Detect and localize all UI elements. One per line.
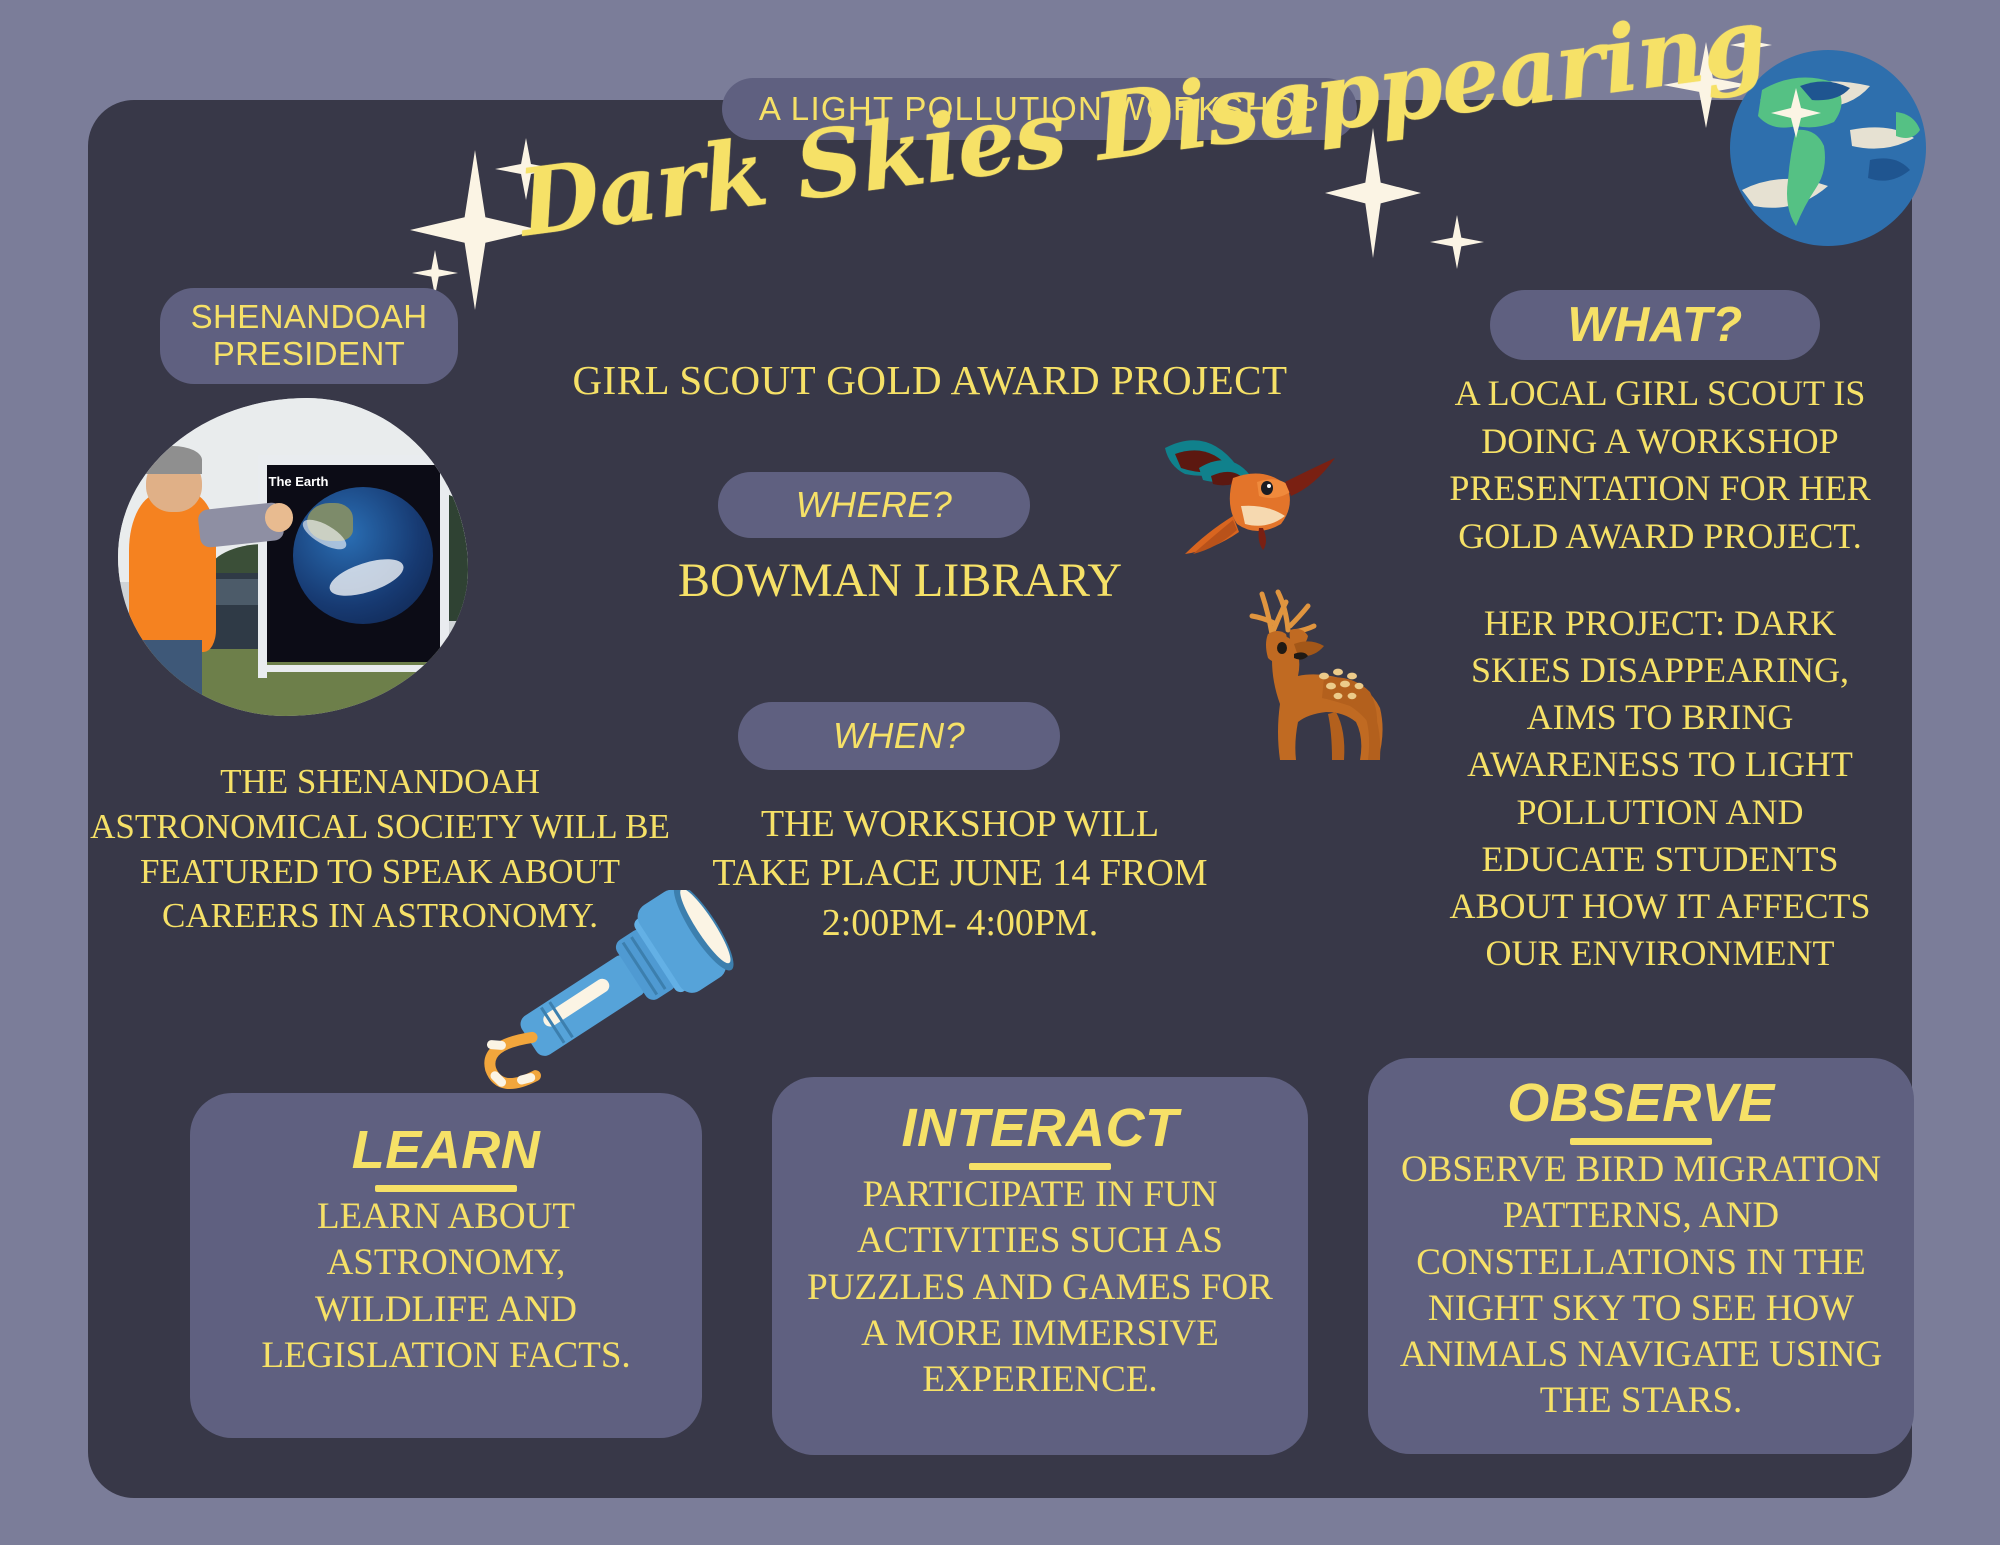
where-value: BOWMAN LIBRARY (620, 552, 1180, 611)
hummingbird-illustration (1145, 420, 1345, 590)
photo-frame-pipe (258, 455, 451, 463)
card-underline (375, 1185, 517, 1192)
card-title-interact: INTERACT (772, 1097, 1308, 1159)
card-title-observe: OBSERVE (1368, 1072, 1914, 1134)
where-badge: WHERE? (718, 472, 1030, 538)
photo-frame-pipe (258, 665, 433, 672)
feature-card-learn: LEARN LEARN ABOUT ASTRONOMY, WILDLIFE AN… (190, 1093, 702, 1438)
photo-person-jeans (139, 640, 202, 704)
flashlight-illustration (440, 890, 770, 1090)
card-body-learn: LEARN ABOUT ASTRONOMY, WILDLIFE AND LEGI… (190, 1194, 702, 1379)
poster-canvas: A LIGHT POLLUTION WORKSHOP Dark Skies Di… (0, 0, 2000, 1545)
president-photo: The Earth (118, 398, 468, 716)
feature-card-interact: INTERACT PARTICIPATE IN FUN ACTIVITIES S… (772, 1077, 1308, 1455)
card-underline (1570, 1138, 1712, 1145)
photo-frame-pipe (440, 455, 449, 659)
what-paragraph-2: HER PROJECT: DARK SKIES DISAPPEARING, AI… (1415, 600, 1905, 977)
feature-card-observe: OBSERVE OBSERVE BIRD MIGRATION PATTERNS,… (1368, 1058, 1914, 1454)
card-underline (969, 1163, 1111, 1170)
card-body-observe: OBSERVE BIRD MIGRATION PATTERNS, AND CON… (1368, 1147, 1914, 1425)
photo-person-hair (143, 446, 203, 475)
what-badge: WHAT? (1490, 290, 1820, 360)
deer-illustration (1228, 572, 1408, 772)
photo-frame-pipe (258, 455, 267, 678)
card-title-learn: LEARN (190, 1119, 702, 1181)
photo-person-hand (265, 503, 293, 532)
shenandoah-president-badge: SHENANDOAH PRESIDENT (160, 288, 458, 384)
photo-banner-label: The Earth (269, 474, 329, 489)
what-paragraph-1: A LOCAL GIRL SCOUT IS DOING A WORKSHOP P… (1420, 370, 1900, 560)
page-subtitle: GIRL SCOUT GOLD AWARD PROJECT (560, 355, 1300, 405)
card-body-interact: PARTICIPATE IN FUN ACTIVITIES SUCH AS PU… (772, 1172, 1308, 1403)
when-badge: WHEN? (738, 702, 1060, 770)
